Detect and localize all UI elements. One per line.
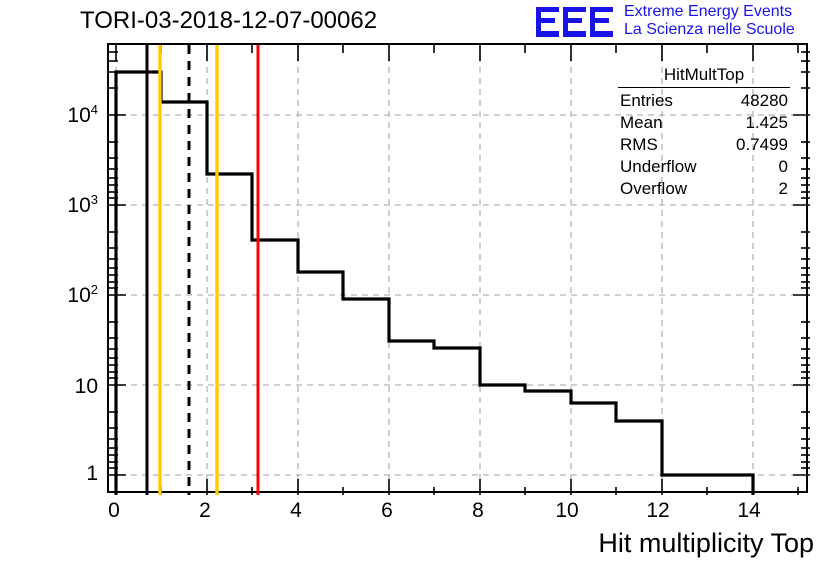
stats-row-entries: Entries 48280 [612,90,796,112]
x-tick-label-4: 4 [282,499,310,523]
plot-canvas: TORI-03-2018-12-07-00062 Extreme Energy … [0,0,836,572]
stats-key-underflow: Underflow [620,156,697,178]
x-tick-label-14: 14 [729,499,769,523]
x-axis-title: Hit multiplicity Top [598,528,814,559]
stats-value-entries: 48280 [741,90,788,112]
x-tick-label-0: 0 [100,499,128,523]
stats-divider [618,87,790,88]
x-tick-label-10: 10 [547,499,587,523]
x-tick-label-2: 2 [191,499,219,523]
stats-value-underflow: 0 [779,156,788,178]
y-tick-label-1e3: 103 [32,192,98,218]
stats-key-entries: Entries [620,90,673,112]
stats-row-rms: RMS 0.7499 [612,134,796,156]
y-tick-label-1: 1 [32,462,98,486]
eee-logo: Extreme Energy Events La Scienza nelle S… [536,2,832,42]
page-title: TORI-03-2018-12-07-00062 [80,7,377,35]
x-tick-label-12: 12 [638,499,678,523]
stats-row-mean: Mean 1.425 [612,112,796,134]
stats-key-rms: RMS [620,134,658,156]
y-tick-label-10: 10 [32,375,98,399]
y-tick-label-1e2: 102 [32,282,98,308]
y-tick-label-1e4: 104 [32,102,98,128]
stats-key-overflow: Overflow [620,178,687,200]
stats-row-underflow: Underflow 0 [612,156,796,178]
stats-key-mean: Mean [620,112,663,134]
x-tick-label-8: 8 [464,499,492,523]
stats-box: HitMultTop Entries 48280 Mean 1.425 RMS … [612,64,796,205]
stats-title: HitMultTop [612,64,796,86]
x-tick-label-6: 6 [373,499,401,523]
eee-logo-line1: Extreme Energy Events [624,3,795,21]
eee-logo-icon [536,6,616,38]
stats-value-rms: 0.7499 [736,134,788,156]
stats-row-overflow: Overflow 2 [612,178,796,200]
stats-value-overflow: 2 [779,178,788,200]
eee-logo-text: Extreme Energy Events La Scienza nelle S… [624,3,795,39]
eee-logo-line2: La Scienza nelle Scuole [624,21,795,39]
stats-value-mean: 1.425 [745,112,788,134]
